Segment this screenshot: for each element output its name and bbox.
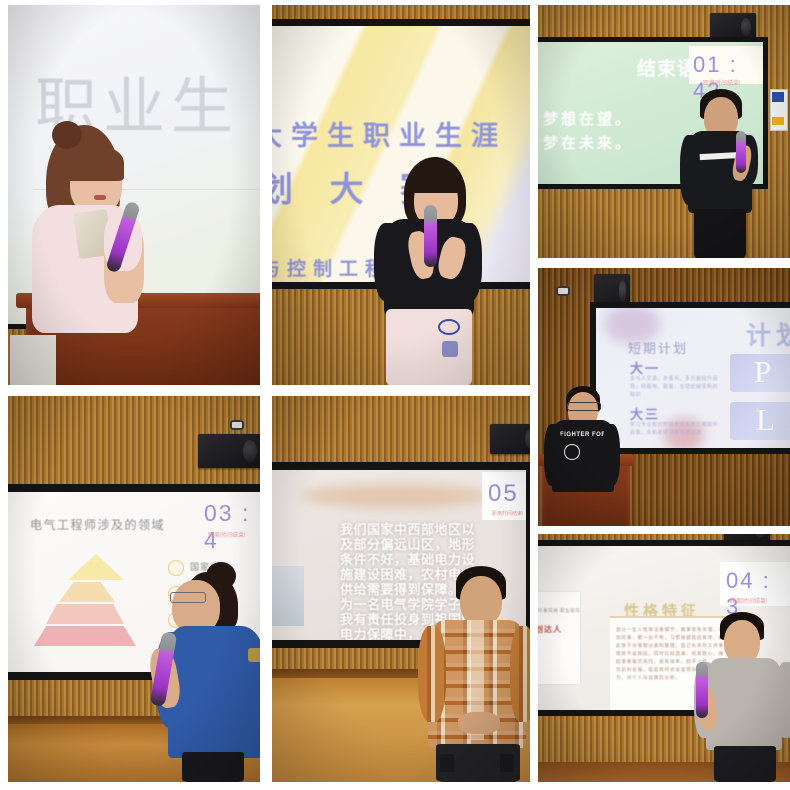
legend-bullet-1 <box>168 560 184 576</box>
slide-body-line-2: ，梦在未来。 <box>538 132 633 153</box>
pyramid-diagram <box>40 554 170 644</box>
timer-display: 03 : 4 <box>204 500 260 554</box>
panel-6-male-presenter-text-slide: 05 距离时间结束! 我们国家中西部地区以及部分偏远山区，地形条件不好，基础电力… <box>272 396 530 782</box>
timer-note: 距离时间结束! <box>208 530 246 539</box>
slide-title-panel4: 计划 <box>746 316 790 352</box>
timer-note: 距离时间结束! <box>703 78 741 87</box>
microphone-icon <box>696 662 708 718</box>
slide-title-line-1: 大学生职业生涯 <box>272 114 507 153</box>
panel-5-female-presenter-pyramid-slide: 电气工程师涉及的领域 03 : 4 距离时间结束! 国家电网 <box>8 396 260 782</box>
microphone-icon <box>736 131 746 173</box>
panel-2-female-presenter-center-stage: 大学生职业生涯 划 大 赛 与控制工程 <box>272 5 530 385</box>
slide-body-2: 学习专业知识积极参加各类比赛提升自我，多和老师同学沟通交流 <box>630 422 718 438</box>
speaker-icon <box>198 434 260 468</box>
panel-1-female-presenter-at-podium: 职业生 <box>8 5 260 385</box>
side-card-title: 计划达人 <box>538 624 562 635</box>
slide-body-1: 多与人交流、多看书、多方面提升自我，积极地、勤奋、主动去接受新的知识 <box>630 376 722 400</box>
speaker-icon <box>490 424 530 454</box>
projection-screen: 计划 短期计划 大一 多与人交流、多看书、多方面提升自我，积极地、勤奋、主动去接… <box>590 302 790 454</box>
side-card-tags: 性格 行事风格 职业取向 <box>538 608 580 614</box>
letter-block-1-label: P <box>754 354 771 390</box>
camera-icon <box>556 286 570 296</box>
slide-body-line-1: ，梦想在望。 <box>538 108 633 129</box>
letter-block-2-label: L <box>756 402 775 438</box>
camera-icon <box>230 420 244 430</box>
slide-title-panel3: 结束语 <box>637 54 697 81</box>
photo-collage: 职业生 <box>0 0 790 790</box>
slide-item-1: 大一 <box>630 358 660 377</box>
slide-section-title: 短期计划 <box>628 338 688 357</box>
panel-3-male-presenter-closing-remarks: 结束语 01 : 42 距离时间结束! ，梦想在望。 ，梦在未来。 <box>538 5 790 258</box>
timer-note: 距离时间结束! <box>492 510 523 517</box>
microphone-icon <box>424 205 437 267</box>
slide-title-panel5: 电气工程师涉及的领域 <box>30 516 165 533</box>
timer-note: 距离时间结束! <box>730 596 768 605</box>
slide-item-2: 大三 <box>630 404 660 423</box>
side-card <box>538 592 580 684</box>
timer-display: 05 <box>488 480 519 508</box>
panel-4-male-presenter-short-term-plan: 计划 短期计划 大一 多与人交流、多看书、多方面提升自我，积极地、勤奋、主动去接… <box>538 268 790 526</box>
panel-7-male-presenter-personality-slide: 04 : 3 距离时间结束! 性格特征 性格 行事风格 职业取向 计划达人 自认… <box>538 534 790 782</box>
